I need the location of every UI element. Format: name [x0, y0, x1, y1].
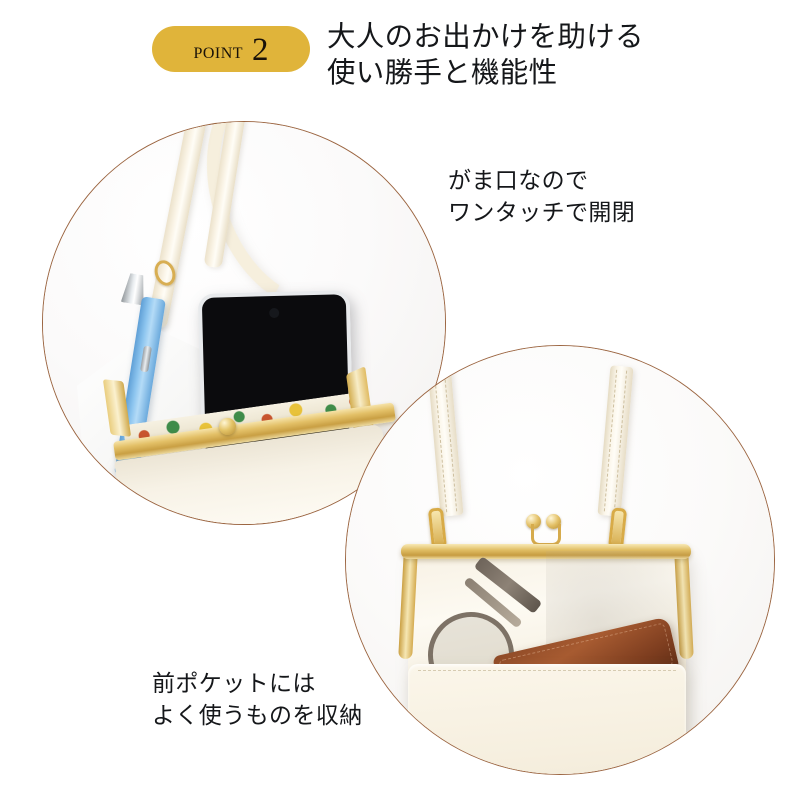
page-title-line-1: 大人のお出かけを助ける [327, 19, 777, 55]
caption-clasp-line-2: ワンタッチで開閉 [448, 197, 635, 229]
clasp-ball-icon [219, 418, 236, 435]
caption-pocket-line-2: よく使うものを収納 [152, 700, 363, 732]
caption-pocket: 前ポケットには よく使うものを収納 [152, 668, 363, 731]
photo-front-pocket [345, 345, 775, 775]
page-title-line-2: 使い勝手と機能性 [327, 55, 777, 91]
front-pocket [408, 664, 686, 775]
clasp-stem [531, 524, 561, 546]
page-title: 大人のお出かけを助ける 使い勝手と機能性 [327, 19, 777, 92]
product-feature-panel: POINT 2 大人のお出かけを助ける 使い勝手と機能性 [0, 0, 800, 800]
caption-clasp: がま口なので ワンタッチで開閉 [448, 165, 635, 228]
caption-pocket-line-1: 前ポケットには [152, 668, 363, 700]
photo-front-pocket-scene [346, 346, 774, 774]
caption-clasp-line-1: がま口なので [448, 165, 635, 197]
header: POINT 2 大人のお出かけを助ける 使い勝手と機能性 [0, 0, 800, 110]
point-badge: POINT 2 [152, 26, 310, 72]
point-badge-number: 2 [252, 34, 269, 67]
point-badge-word: POINT [193, 39, 243, 62]
kisslock-clasp-icon [524, 514, 568, 546]
